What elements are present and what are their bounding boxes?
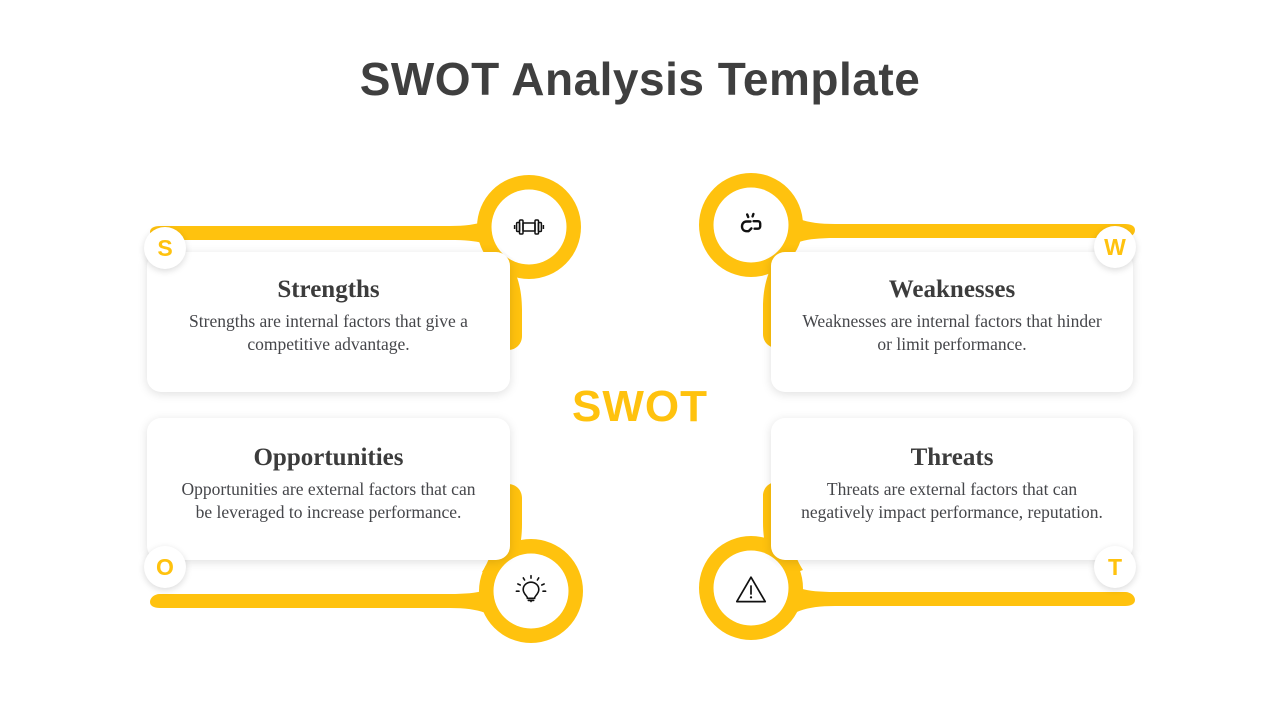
badge-letter-t: T bbox=[1108, 554, 1122, 581]
card-heading-strengths: Strengths bbox=[147, 276, 510, 304]
card-body-strengths: Strengths are internal factors that give… bbox=[147, 310, 510, 357]
card-strengths[interactable]: Strengths Strengths are internal factors… bbox=[147, 252, 510, 392]
card-opportunities[interactable]: Opportunities Opportunities are external… bbox=[147, 418, 510, 560]
card-body-opportunities: Opportunities are external factors that … bbox=[147, 478, 510, 525]
badge-letter-o: O bbox=[156, 554, 174, 581]
card-threats[interactable]: Threats Threats are external factors tha… bbox=[771, 418, 1133, 560]
badge-letter-s: S bbox=[157, 235, 172, 262]
warning-triangle-icon bbox=[732, 571, 770, 609]
badge-threats[interactable]: T bbox=[1094, 546, 1136, 588]
swot-slide: SWOT Analysis Template bbox=[0, 0, 1280, 720]
card-heading-opportunities: Opportunities bbox=[147, 444, 510, 472]
badge-letter-w: W bbox=[1104, 234, 1126, 261]
icon-holder-threats bbox=[716, 555, 786, 625]
icon-holder-weaknesses bbox=[716, 190, 786, 260]
card-heading-weaknesses: Weaknesses bbox=[771, 276, 1133, 304]
icon-holder-opportunities bbox=[496, 556, 566, 626]
icon-holder-strengths bbox=[494, 192, 564, 262]
card-body-threats: Threats are external factors that can ne… bbox=[771, 478, 1133, 525]
broken-link-icon bbox=[734, 208, 768, 242]
dumbbell-icon bbox=[512, 210, 546, 244]
page-title: SWOT Analysis Template bbox=[0, 52, 1280, 106]
badge-opportunities[interactable]: O bbox=[144, 546, 186, 588]
card-weaknesses[interactable]: Weaknesses Weaknesses are internal facto… bbox=[771, 252, 1133, 392]
center-swot-label: SWOT bbox=[540, 382, 740, 432]
badge-strengths[interactable]: S bbox=[144, 227, 186, 269]
badge-weaknesses[interactable]: W bbox=[1094, 226, 1136, 268]
lightbulb-icon bbox=[513, 573, 549, 609]
card-body-weaknesses: Weaknesses are internal factors that hin… bbox=[771, 310, 1133, 357]
card-heading-threats: Threats bbox=[771, 444, 1133, 472]
